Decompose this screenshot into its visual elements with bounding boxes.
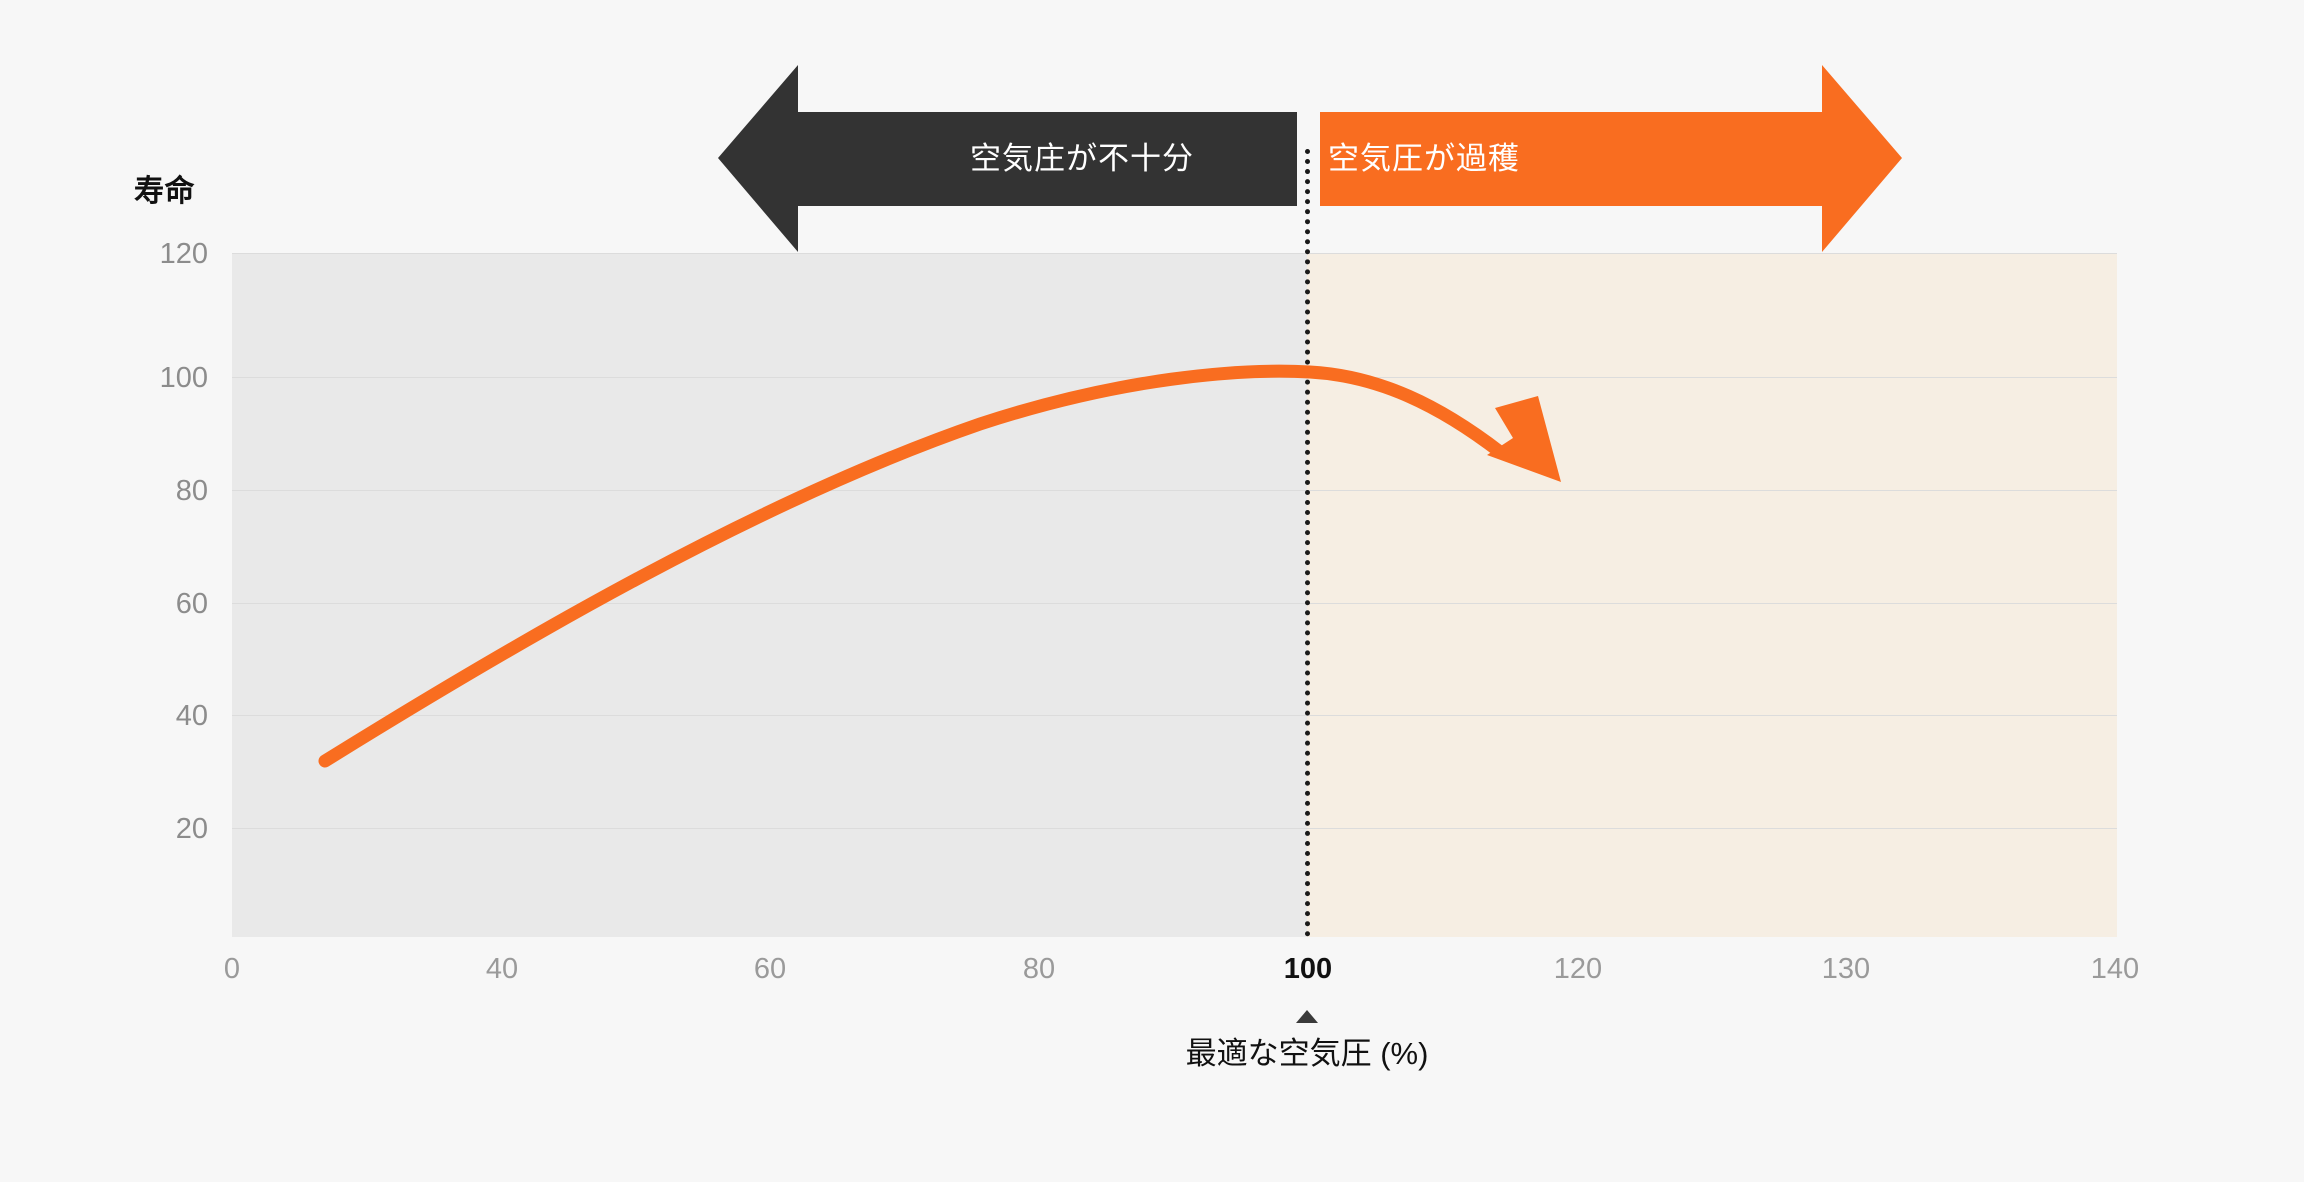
x-axis-title: 最適な空気圧 (%): [1186, 1038, 1429, 1069]
triangle-up-icon: [1296, 1010, 1318, 1023]
gridline-20: [232, 828, 2117, 829]
gridline-100: [232, 377, 2117, 378]
x-tick-label-80: 80: [979, 955, 1099, 984]
gridline-60: [232, 603, 2117, 604]
chart-canvas: 寿命 空気庄が不十分 空気圧が過穫 120 100 80 60 40 20 0 …: [0, 0, 2304, 1182]
underinflation-label: 空気庄が不十分: [970, 143, 1194, 174]
y-tick-label-60: 60: [108, 590, 208, 619]
y-tick-label-80: 80: [108, 477, 208, 506]
y-tick-label-40: 40: [108, 702, 208, 731]
x-tick-label-100: 100: [1248, 955, 1368, 984]
x-tick-label-40: 40: [442, 955, 562, 984]
x-tick-label-140: 140: [2055, 955, 2175, 984]
x-tick-label-120: 120: [1518, 955, 1638, 984]
underinflation-region: [232, 253, 1307, 937]
optimal-pressure-divider: [1305, 149, 1310, 937]
y-tick-label-100: 100: [108, 364, 208, 393]
gridline-80: [232, 490, 2117, 491]
plot-area: [232, 253, 2117, 937]
y-tick-label-20: 20: [108, 815, 208, 844]
x-tick-label-60: 60: [710, 955, 830, 984]
y-tick-label-120: 120: [108, 240, 208, 269]
pressure-banner: 空気庄が不十分 空気圧が過穫: [700, 55, 1920, 260]
gridline-120: [232, 253, 2117, 254]
gridline-40: [232, 715, 2117, 716]
x-tick-label-130: 130: [1786, 955, 1906, 984]
y-axis-title: 寿命: [134, 166, 195, 210]
overinflation-label: 空気圧が過穫: [1328, 143, 1520, 174]
overinflation-region: [1307, 253, 2117, 937]
x-tick-label-0: 0: [172, 955, 292, 984]
